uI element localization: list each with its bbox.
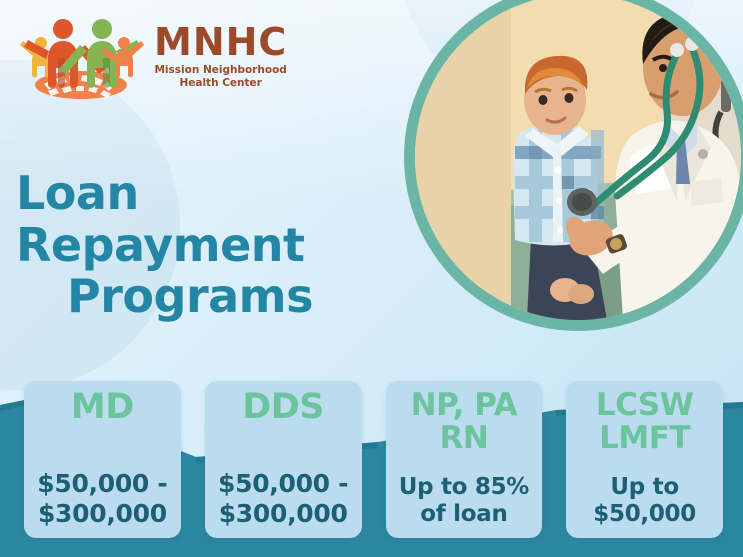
four-people-circle-logo-icon bbox=[18, 12, 144, 100]
page-title-line-2: Programs bbox=[16, 271, 416, 323]
program-card-title: NP, PA RN bbox=[411, 389, 517, 454]
program-card-title: LCSW LMFT bbox=[596, 389, 694, 454]
brand-logo: MNHC Mission Neighborhood Health Center bbox=[18, 12, 287, 100]
photo-ring bbox=[404, 0, 743, 331]
program-card-lcsw-lmft[interactable]: LCSW LMFT Up to $50,000 bbox=[566, 381, 723, 538]
brand-acronym: MNHC bbox=[154, 23, 287, 61]
doctor-examining-child-photo bbox=[415, 0, 741, 320]
page-title-line-1: Loan Repayment bbox=[16, 168, 416, 271]
program-card-title: DDS bbox=[242, 389, 324, 426]
brand-logo-text: MNHC Mission Neighborhood Health Center bbox=[154, 23, 287, 89]
program-card-np-pa-rn[interactable]: NP, PA RN Up to 85% of loan bbox=[386, 381, 543, 538]
program-card-amount: $50,000 - $300,000 bbox=[37, 469, 167, 528]
program-card-dds[interactable]: DDS $50,000 - $300,000 bbox=[205, 381, 362, 538]
program-card-md[interactable]: MD $50,000 - $300,000 bbox=[24, 381, 181, 538]
loan-repayment-poster: MNHC Mission Neighborhood Health Center … bbox=[0, 0, 743, 557]
program-cards: MD $50,000 - $300,000 DDS $50,000 - $300… bbox=[24, 381, 723, 538]
brand-subtitle: Mission Neighborhood Health Center bbox=[154, 64, 286, 89]
page-title: Loan Repayment Programs bbox=[16, 168, 416, 323]
program-card-amount: $50,000 - $300,000 bbox=[218, 469, 348, 528]
program-card-amount: Up to 85% of loan bbox=[399, 474, 529, 528]
program-card-amount: Up to $50,000 bbox=[593, 474, 696, 528]
program-card-title: MD bbox=[71, 389, 134, 426]
